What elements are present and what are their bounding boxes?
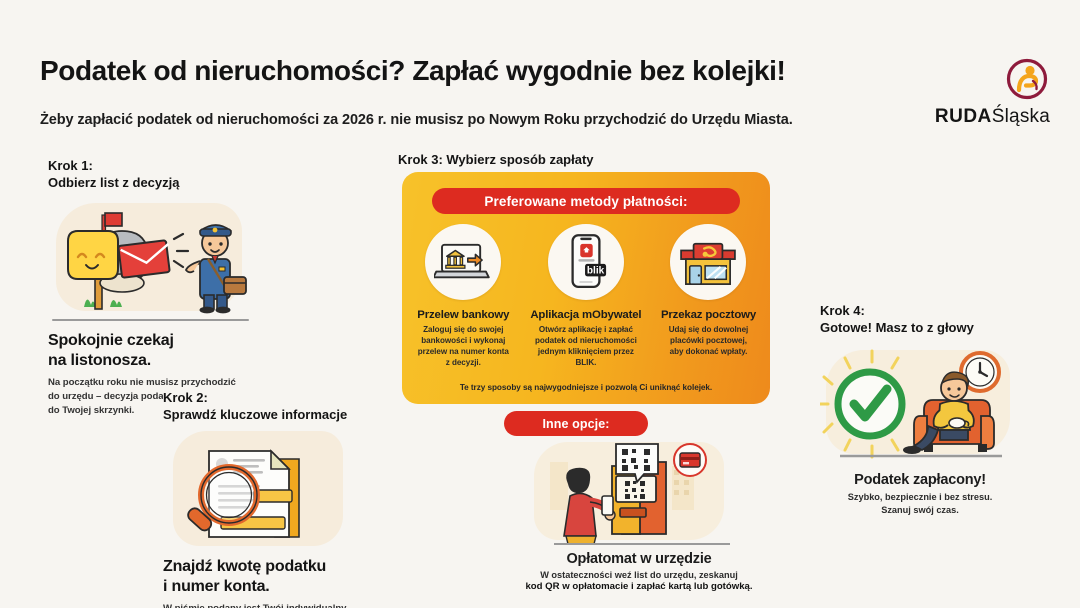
step-4-desc-line1: Szybko, bezpiecznie i bez stresu. bbox=[820, 491, 1020, 504]
payment-methods-list: Przelew bankowy Zaloguj się do swojej ba… bbox=[402, 224, 770, 369]
method-title: Przekaz pocztowy bbox=[661, 309, 756, 321]
payment-method-bank-transfer[interactable]: Przelew bankowy Zaloguj się do swojej ba… bbox=[402, 224, 525, 369]
step-2-desc-line1: W piśmie podany jest Twój indywidualny bbox=[163, 602, 363, 608]
method-desc-line3: aby dokonać wpłaty. bbox=[652, 346, 764, 357]
method-description: Otwórz aplikację i zapłać podatek od nie… bbox=[530, 324, 642, 369]
step-2-label: Krok 2: Sprawdź kluczowe informacje bbox=[163, 390, 363, 423]
mobywatel-phone-blik-icon: blik bbox=[548, 224, 624, 300]
method-desc-line1: Otwórz aplikację i zapłać bbox=[530, 324, 642, 335]
step-4-label-line1: Krok 4: bbox=[820, 303, 1020, 320]
step-1-label-line2: Odbierz list z decyzją bbox=[48, 175, 263, 192]
page-title: Podatek od nieruchomości? Zapłać wygodni… bbox=[40, 55, 785, 87]
payment-kiosk-qr-icon bbox=[494, 440, 784, 545]
laptop-bank-transfer-icon bbox=[425, 224, 501, 300]
card-oplatomat: Opłatomat w urzędzie W ostateczności weź… bbox=[494, 440, 784, 592]
step-1-label: Krok 1: Odbierz list z decyzją bbox=[48, 158, 263, 191]
step-2-heading: Znajdź kwotę podatku i numer konta. bbox=[163, 557, 363, 596]
preferred-methods-pill: Preferowane metody płatności: bbox=[432, 188, 740, 214]
method-title: Przelew bankowy bbox=[417, 309, 509, 321]
method-description: Zaloguj się do swojej bankowości i wykon… bbox=[407, 324, 519, 369]
post-office-icon bbox=[670, 224, 746, 300]
card-step-4: Krok 4: Gotowe! Masz to z głowy bbox=[820, 303, 1020, 517]
oplatomat-title: Opłatomat w urzędzie bbox=[494, 551, 784, 567]
method-desc-line4: z decyzji. bbox=[407, 357, 519, 368]
document-with-magnifier-icon bbox=[163, 429, 355, 549]
step-4-heading: Podatek zapłacony! bbox=[820, 472, 1020, 488]
oplatomat-desc-line2: kod QR w opłatomacie i zapłać kartą lub … bbox=[494, 581, 784, 592]
page-subtitle: Żeby zapłacić podatek od nieruchomości z… bbox=[40, 112, 793, 128]
infographic-page: Podatek od nieruchomości? Zapłać wygodni… bbox=[0, 0, 1080, 608]
payment-method-postal-order[interactable]: Przekaz pocztowy Udaj się do dowolnej pl… bbox=[647, 224, 770, 369]
card-step-1: Krok 1: Odbierz list z decyzją bbox=[48, 158, 263, 417]
method-desc-line2: placówki pocztowej, bbox=[652, 335, 764, 346]
method-desc-line3: przelew na numer konta bbox=[407, 346, 519, 357]
illustration-baseline bbox=[52, 319, 249, 321]
step-4-label: Krok 4: Gotowe! Masz to z głowy bbox=[820, 303, 1020, 336]
methods-footnote: Te trzy sposoby są najwygodniejsze i poz… bbox=[402, 383, 770, 392]
method-desc-line3: jednym kliknięciem przez BLIK. bbox=[530, 346, 642, 368]
step-4-label-line2: Gotowe! Masz to z głowy bbox=[820, 320, 1020, 337]
step-1-label-line1: Krok 1: bbox=[48, 158, 263, 175]
step-3-label: Krok 3: Wybierz sposób zapłaty bbox=[398, 152, 594, 169]
brand-wordmark: RUDAŚląska bbox=[935, 106, 1050, 128]
brand-logo: RUDAŚląska bbox=[912, 58, 1052, 130]
step-4-desc-line2: Szanuj swój czas. bbox=[820, 504, 1020, 517]
step-2-label-line1: Krok 2: bbox=[163, 390, 363, 407]
step-1-heading-line2: na listonosza. bbox=[48, 351, 263, 371]
method-title: Aplikacja mObywatel bbox=[530, 309, 641, 321]
other-options-pill: Inne opcje: bbox=[504, 411, 648, 436]
brand-name-light: Śląska bbox=[992, 106, 1050, 127]
step-2-heading-line1: Znajdź kwotę podatku bbox=[163, 557, 363, 577]
method-desc-line2: podatek od nieruchomości bbox=[530, 335, 642, 346]
step-2-label-line2: Sprawdź kluczowe informacje bbox=[163, 407, 363, 424]
preferred-payment-methods-panel: Preferowane metody płatności: bbox=[402, 172, 770, 404]
mailbox-and-postman-icon bbox=[48, 199, 253, 321]
step-1-heading: Spokojnie czekaj na listonosza. bbox=[48, 331, 263, 370]
method-desc-line1: Zaloguj się do swojej bbox=[407, 324, 519, 335]
brand-name-bold: RUDA bbox=[935, 106, 992, 127]
step-1-desc-line1: Na początku roku nie musisz przychodzić bbox=[48, 376, 263, 390]
card-step-2: Krok 2: Sprawdź kluczowe informacje bbox=[163, 390, 363, 608]
green-check-and-relaxing-person-icon bbox=[820, 344, 1016, 466]
step-2-description: W piśmie podany jest Twój indywidualny n… bbox=[163, 602, 363, 608]
svg-text:blik: blik bbox=[587, 265, 605, 276]
method-description: Udaj się do dowolnej placówki pocztowej,… bbox=[652, 324, 764, 357]
method-desc-line2: bankowości i wykonaj bbox=[407, 335, 519, 346]
ruda-slaska-emblem-icon bbox=[1006, 58, 1048, 100]
oplatomat-desc-line1: W ostateczności weź list do urzędu, zesk… bbox=[494, 570, 784, 580]
step-4-description: Szybko, bezpiecznie i bez stresu. Szanuj… bbox=[820, 491, 1020, 517]
payment-method-mobywatel[interactable]: blik Aplikacja mObywatel Otwórz aplikacj… bbox=[525, 224, 648, 369]
step-1-heading-line1: Spokojnie czekaj bbox=[48, 331, 263, 351]
method-desc-line1: Udaj się do dowolnej bbox=[652, 324, 764, 335]
step-2-heading-line2: i numer konta. bbox=[163, 577, 363, 597]
